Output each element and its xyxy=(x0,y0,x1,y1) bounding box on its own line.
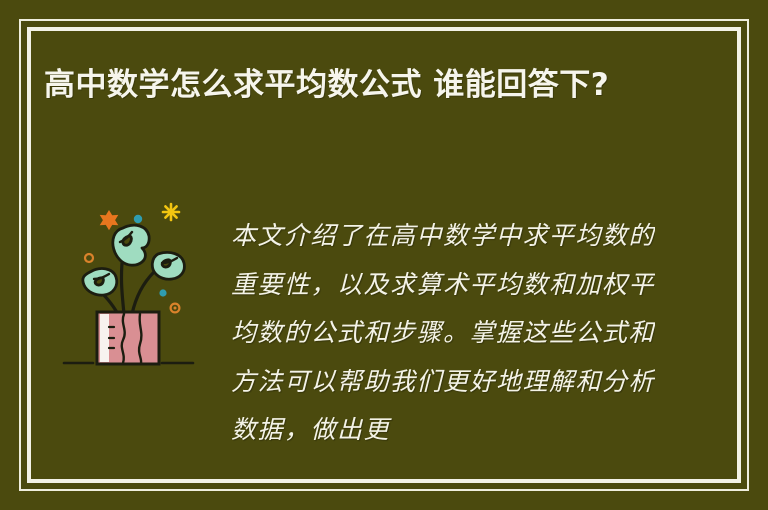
potted-plant-illustration xyxy=(62,196,222,371)
teal-dot-icon xyxy=(134,215,142,223)
orange-ring-right-core xyxy=(174,307,177,310)
leaf-top-center xyxy=(113,225,149,265)
orange-ring-left-icon xyxy=(85,254,93,262)
leaf-right xyxy=(152,252,184,279)
orange-star-icon xyxy=(100,210,119,230)
article-summary-text: 本文介绍了在高中数学中求平均数的重要性，以及求算术平均数和加权平均数的公式和步骤… xyxy=(231,212,655,455)
article-card: 高中数学怎么求平均数公式 谁能回答下? xyxy=(0,0,768,510)
leaf-left xyxy=(83,269,117,296)
plant-pot xyxy=(97,312,159,364)
teal-dot-right-icon xyxy=(159,289,166,296)
yellow-starburst-icon xyxy=(163,204,179,220)
page-title: 高中数学怎么求平均数公式 谁能回答下? xyxy=(44,62,684,109)
